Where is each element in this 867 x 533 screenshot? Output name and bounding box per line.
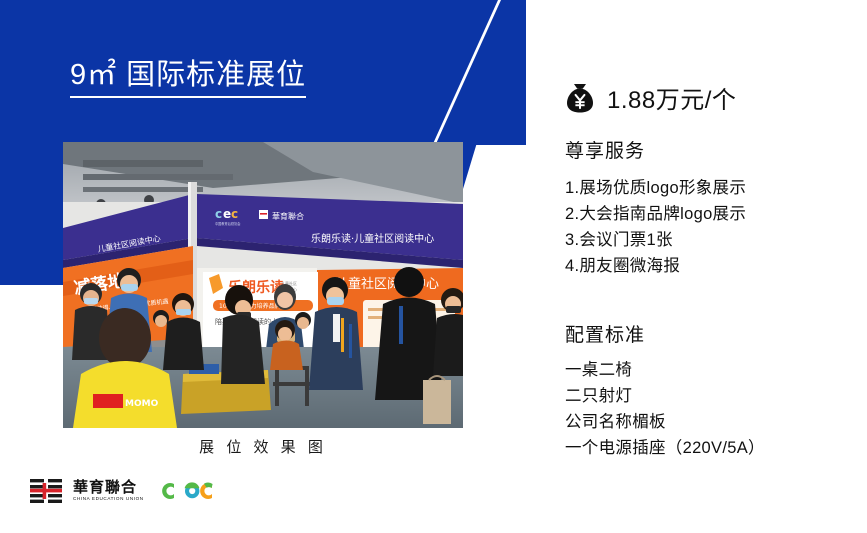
service-item: 2.大会指南品牌logo展示 [565,201,746,227]
svg-text:MOMO: MOMO [125,399,159,409]
hua-yu-text: 華育聯合 CHINA EDUCATION UNION [73,480,144,502]
service-item: 3.会议门票1张 [565,227,746,253]
configuration-item: 二只射灯 [565,383,765,409]
price-amount: 1.88万元/个 [607,80,736,115]
photo-caption: 展 位 效 果 图 [63,436,463,457]
slide-root: 9㎡ 国际标准展位 [0,0,867,533]
hua-yu-en-name: CHINA EDUCATION UNION [73,497,144,502]
svg-text:e: e [223,207,231,221]
svg-text:c: c [231,207,238,221]
services-block: 尊享服务 1.展场优质logo形象展示 2.大会指南品牌logo展示 3.会议门… [565,136,746,279]
svg-text:c: c [215,207,222,221]
services-heading: 尊享服务 [565,136,746,163]
page-title-text: 9㎡ 国际标准展位 [70,59,306,91]
configuration-item: 一桌二椅 [565,357,765,383]
page-title-wrap: 9㎡ 国际标准展位 [70,57,306,98]
hua-yu-mark-icon [30,478,66,504]
service-item: 4.朋友圈微海报 [565,253,746,279]
money-bag-icon [563,81,597,115]
svg-text:華育聯合: 華育聯合 [272,211,304,221]
svg-text:中国教育后勤协会: 中国教育后勤协会 [215,221,241,226]
configuration-item: 公司名称楣板 [565,409,765,435]
service-item: 1.展场优质logo形象展示 [565,175,746,201]
svg-text:乐朗乐读·儿童社区阅读中心: 乐朗乐读·儿童社区阅读中心 [311,232,434,245]
price-row: 1.88万元/个 [563,80,736,115]
exhibition-booth-photo: 儿童社区阅读中心 乐朗乐读·儿童社区阅读中心 c e c 中国教育后勤协会 華育… [63,142,463,428]
configuration-heading: 配置标准 [565,320,765,347]
page-title: 9㎡ 国际标准展位 [70,57,306,98]
cec-logo [160,479,218,503]
footer-logos: 華育聯合 CHINA EDUCATION UNION [30,478,218,504]
details-column: 1.88万元/个 尊享服务 1.展场优质logo形象展示 2.大会指南品牌log… [563,0,867,533]
hua-yu-cn-name: 華育聯合 [73,480,144,495]
configuration-item: 一个电源插座（220V/5A） [565,435,765,461]
configuration-block: 配置标准 一桌二椅 二只射灯 公司名称楣板 一个电源插座（220V/5A） [565,320,765,461]
hua-yu-lian-he-logo: 華育聯合 CHINA EDUCATION UNION [30,478,144,504]
